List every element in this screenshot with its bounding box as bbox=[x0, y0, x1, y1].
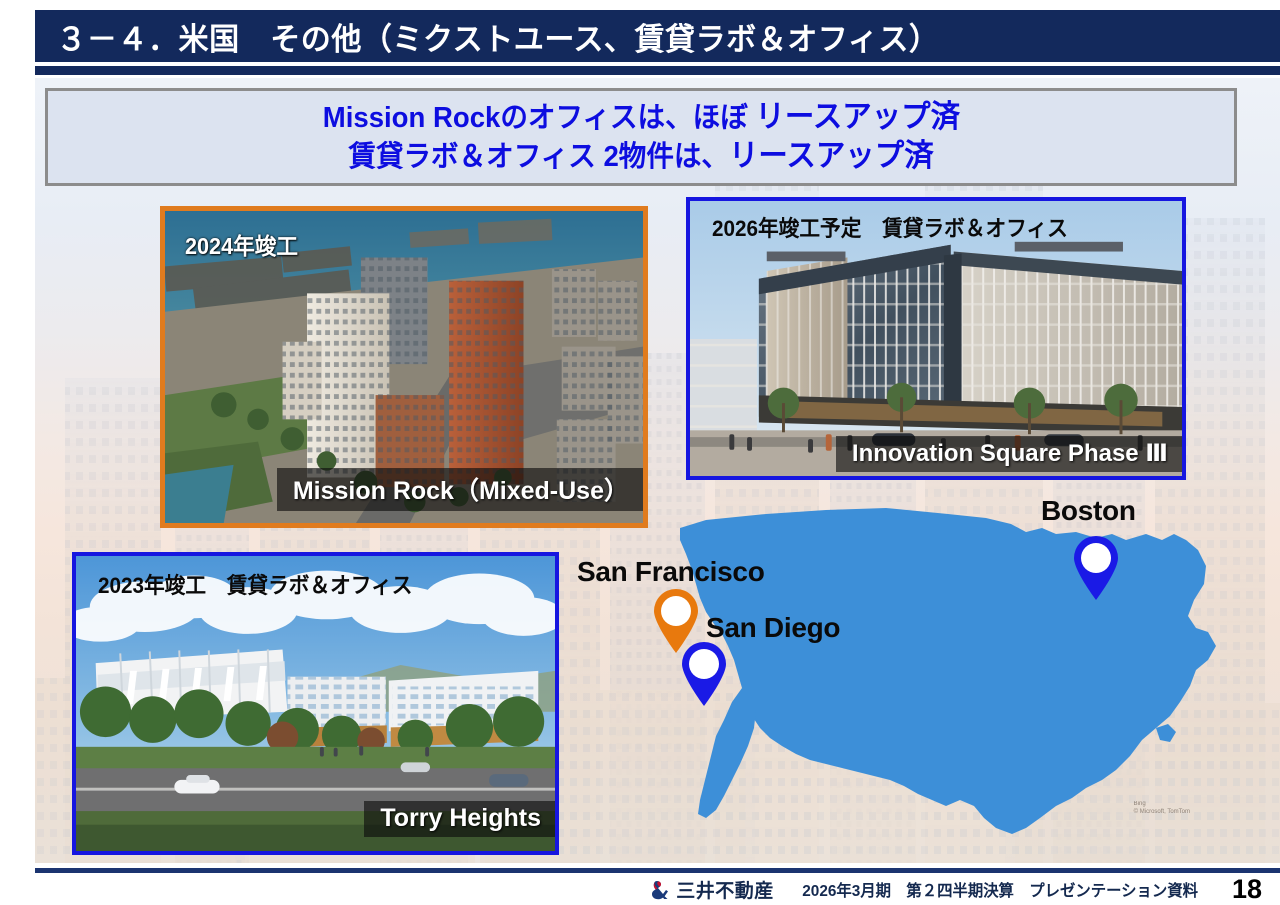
location-pin-icon bbox=[1070, 535, 1122, 601]
usa-map: Bing © Microsoft, TomTom bbox=[556, 488, 1246, 873]
page-title: ３－４．米国 その他（ミクストユース、賃貸ラボ＆オフィス） bbox=[35, 14, 939, 59]
key-message-line-1: Mission Rockのオフィスは、ほぼ リースアップ済 bbox=[322, 99, 959, 136]
card-caption-innovation-square: Innovation Square Phase Ⅲ bbox=[836, 436, 1182, 472]
slide-title-bar: ３－４．米国 その他（ミクストユース、賃貸ラボ＆オフィス） bbox=[35, 10, 1280, 62]
photo-card-torry-heights: 2023年竣工 賃貸ラボ＆オフィス Torry Heights bbox=[72, 552, 559, 855]
key-message-line-2-emphasis: リースアップ済 bbox=[729, 138, 934, 173]
footer-document-title: 2026年3月期 第２四半期決算 プレゼンテーション資料 bbox=[802, 877, 1198, 901]
card-caption-mission-rock: Mission Rock（Mixed-Use） bbox=[277, 468, 643, 511]
company-logo: 三井不動産 bbox=[649, 876, 774, 903]
slide-root: ３－４．米国 その他（ミクストユース、賃貸ラボ＆オフィス） Mission Ro… bbox=[0, 0, 1280, 905]
map-pin-san-diego[interactable] bbox=[678, 641, 730, 712]
company-name: 三井不動産 bbox=[676, 876, 774, 903]
mitsui-ampersand-logo-icon bbox=[649, 878, 671, 900]
photo-card-mission-rock: 2024年竣工 Mission Rock（Mixed-Use） bbox=[160, 206, 648, 528]
key-message-line-1-prefix: Mission Rockのオフィスは、ほぼ bbox=[322, 102, 755, 134]
photo-card-innovation-square: 2026年竣工予定 賃貸ラボ＆オフィス Innovation Square Ph… bbox=[686, 197, 1186, 480]
location-pin-icon bbox=[678, 641, 730, 707]
map-attribution-brand: Bing bbox=[1134, 801, 1190, 809]
key-message-box: Mission Rockのオフィスは、ほぼ リースアップ済 賃貸ラボ＆オフィス … bbox=[45, 88, 1237, 186]
card-tag-completion-plan: 2026年竣工予定 賃貸ラボ＆オフィス bbox=[712, 211, 1068, 243]
key-message-line-2-prefix: 賃貸ラボ＆オフィス 2物件は、 bbox=[348, 141, 729, 173]
map-label-boston: Boston bbox=[1041, 495, 1136, 527]
slide-footer: 三井不動産 2026年3月期 第２四半期決算 プレゼンテーション資料 18 bbox=[35, 873, 1280, 905]
map-pin-boston[interactable] bbox=[1070, 535, 1122, 606]
title-underline-rule bbox=[35, 66, 1280, 75]
map-attribution: Bing © Microsoft, TomTom bbox=[1134, 801, 1190, 816]
card-tag-completion-year: 2024年竣工 bbox=[185, 227, 298, 261]
key-message-line-1-emphasis: リースアップ済 bbox=[755, 99, 960, 134]
card-tag-completion-year-lab: 2023年竣工 賃貸ラボ＆オフィス bbox=[98, 568, 412, 600]
map-attribution-text: © Microsoft, TomTom bbox=[1134, 809, 1190, 817]
map-label-san-diego: San Diego bbox=[706, 612, 840, 644]
card-caption-torry-heights: Torry Heights bbox=[364, 801, 555, 837]
key-message-line-2: 賃貸ラボ＆オフィス 2物件は、リースアップ済 bbox=[348, 138, 933, 175]
page-number: 18 bbox=[1232, 874, 1262, 905]
map-label-san-francisco: San Francisco bbox=[577, 556, 765, 588]
